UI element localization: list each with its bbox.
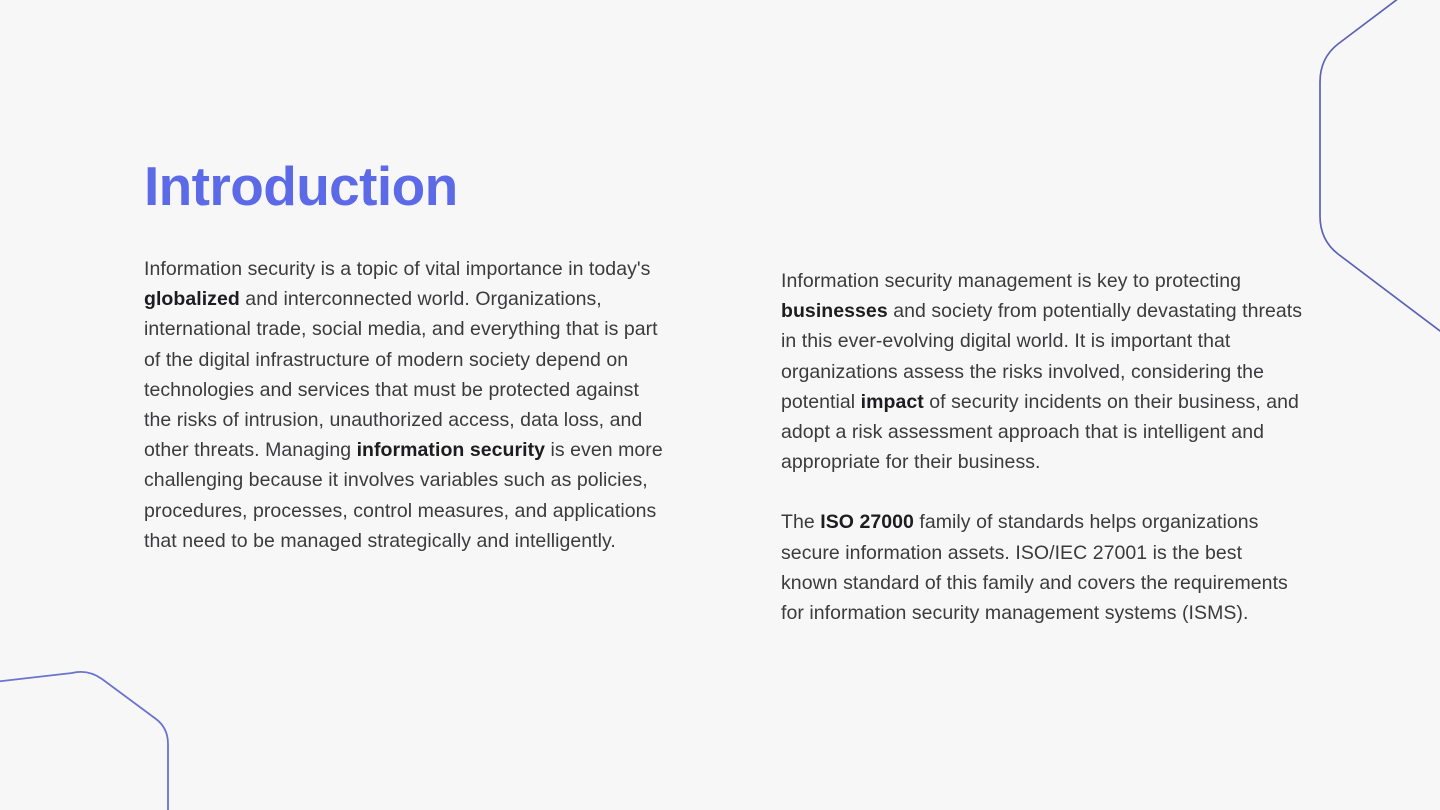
paragraph: The ISO 27000 family of standards helps … [781,507,1303,628]
emphasis-text: information security [357,439,545,461]
body-text: Information security management is key t… [781,270,1241,292]
body-text: Information security is a topic of vital… [144,258,650,280]
left-column: Information security is a topic of vital… [144,254,664,556]
paragraph: Information security is a topic of vital… [144,254,664,556]
slide-canvas: Introduction Information security is a t… [0,0,1440,810]
emphasis-text: ISO 27000 [820,511,914,533]
right-column: Information security management is key t… [781,266,1303,628]
emphasis-text: impact [861,391,924,413]
body-text: and interconnected world. Organizations,… [144,288,658,461]
page-title: Introduction [144,157,458,215]
paragraph: Information security management is key t… [781,266,1303,477]
emphasis-text: businesses [781,300,888,322]
emphasis-text: globalized [144,288,240,310]
body-text: The [781,511,820,533]
